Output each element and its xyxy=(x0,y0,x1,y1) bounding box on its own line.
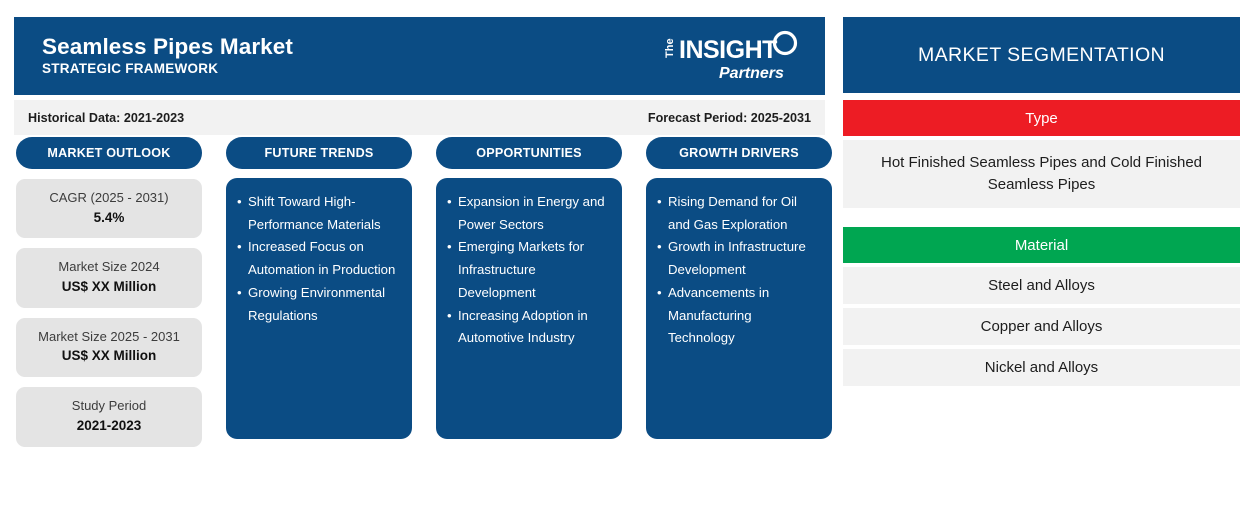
segment-value-type: Hot Finished Seamless Pipes and Cold Fin… xyxy=(843,140,1240,208)
column-opportunities: OPPORTUNITIES Expansion in Energy and Po… xyxy=(436,137,622,439)
segment-value-copper: Copper and Alloys xyxy=(843,308,1240,345)
segment-value-nickel: Nickel and Alloys xyxy=(843,349,1240,386)
stat-card-cagr: CAGR (2025 - 2031) 5.4% xyxy=(16,179,202,238)
bullet-card-opportunities: Expansion in Energy and Power Sectors Em… xyxy=(436,178,622,439)
market-segmentation-panel: MARKET SEGMENTATION Type Hot Finished Se… xyxy=(843,17,1240,386)
pill-future-trends[interactable]: FUTURE TRENDS xyxy=(226,137,412,169)
page-subtitle: STRATEGIC FRAMEWORK xyxy=(42,60,293,78)
stat-value: US$ XX Million xyxy=(24,278,194,297)
list-item: Rising Demand for Oil and Gas Exploratio… xyxy=(657,191,820,236)
segment-value-steel: Steel and Alloys xyxy=(843,267,1240,304)
stat-label: Market Size 2024 xyxy=(24,258,194,276)
stat-value: 5.4% xyxy=(24,209,194,228)
forecast-period-label: Forecast Period: 2025-2031 xyxy=(648,111,811,125)
list-item: Expansion in Energy and Power Sectors xyxy=(447,191,610,236)
column-growth-drivers: GROWTH DRIVERS Rising Demand for Oil and… xyxy=(646,137,832,439)
stat-value: US$ XX Million xyxy=(24,347,194,366)
pill-opportunities[interactable]: OPPORTUNITIES xyxy=(436,137,622,169)
svg-text:INSIGHT: INSIGHT xyxy=(679,36,777,64)
list-item: Emerging Markets for Infrastructure Deve… xyxy=(447,236,610,304)
list-item: Increasing Adoption in Automotive Indust… xyxy=(447,305,610,350)
stat-card-study-period: Study Period 2021-2023 xyxy=(16,387,202,446)
stat-label: CAGR (2025 - 2031) xyxy=(24,189,194,207)
bullet-card-growth-drivers: Rising Demand for Oil and Gas Exploratio… xyxy=(646,178,832,439)
framework-columns: MARKET OUTLOOK CAGR (2025 - 2031) 5.4% M… xyxy=(2,137,827,462)
stat-label: Market Size 2025 - 2031 xyxy=(24,328,194,346)
column-market-outlook: MARKET OUTLOOK CAGR (2025 - 2031) 5.4% M… xyxy=(16,137,202,447)
insight-partners-logo: The INSIGHT Partners xyxy=(661,28,803,84)
pill-market-outlook[interactable]: MARKET OUTLOOK xyxy=(16,137,202,169)
header-text-block: Seamless Pipes Market STRATEGIC FRAMEWOR… xyxy=(42,34,293,78)
svg-text:Partners: Partners xyxy=(719,65,784,82)
stat-card-market-size-2024: Market Size 2024 US$ XX Million xyxy=(16,248,202,307)
stat-card-market-size-forecast: Market Size 2025 - 2031 US$ XX Million xyxy=(16,318,202,377)
page-title: Seamless Pipes Market xyxy=(42,34,293,59)
infographic-page: Seamless Pipes Market STRATEGIC FRAMEWOR… xyxy=(0,0,1254,530)
svg-text:The: The xyxy=(664,38,676,58)
list-item: Growing Environmental Regulations xyxy=(237,282,400,327)
list-item: Growth in Infrastructure Development xyxy=(657,236,820,281)
pill-growth-drivers[interactable]: GROWTH DRIVERS xyxy=(646,137,832,169)
stat-label: Study Period xyxy=(24,397,194,415)
strategic-framework-panel: Seamless Pipes Market STRATEGIC FRAMEWOR… xyxy=(14,17,825,135)
list-item: Increased Focus on Automation in Product… xyxy=(237,236,400,281)
column-future-trends: FUTURE TRENDS Shift Toward High-Performa… xyxy=(226,137,412,439)
list-item: Shift Toward High-Performance Materials xyxy=(237,191,400,236)
stat-value: 2021-2023 xyxy=(24,417,194,436)
segment-spacer xyxy=(843,208,1240,220)
segmentation-title: MARKET SEGMENTATION xyxy=(843,17,1240,93)
list-item: Advancements in Manufacturing Technology xyxy=(657,282,820,350)
bullet-card-future-trends: Shift Toward High-Performance Materials … xyxy=(226,178,412,439)
historical-data-label: Historical Data: 2021-2023 xyxy=(28,111,184,125)
panel-header: Seamless Pipes Market STRATEGIC FRAMEWOR… xyxy=(14,17,825,95)
period-bar: Historical Data: 2021-2023 Forecast Peri… xyxy=(14,100,825,135)
segment-header-type[interactable]: Type xyxy=(843,100,1240,136)
segment-header-material[interactable]: Material xyxy=(843,227,1240,263)
